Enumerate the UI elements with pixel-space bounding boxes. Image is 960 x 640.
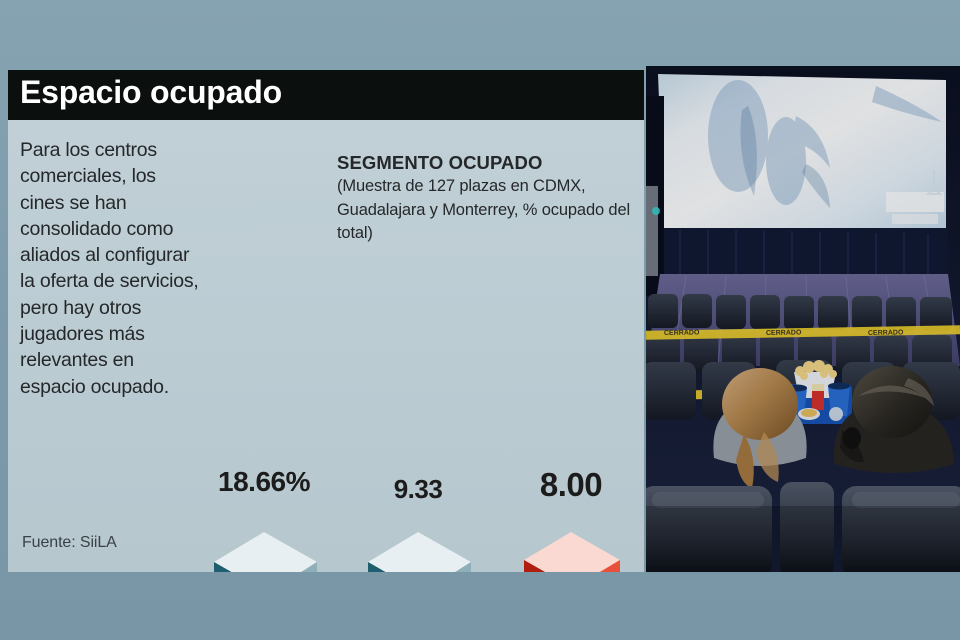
bar-shape-autoservicio	[204, 524, 324, 572]
infographic-root: Para los centros comerciales, los cines …	[0, 0, 960, 640]
bar-value-autoservicio: 18.66%	[204, 466, 324, 498]
bar-value-cine: 8.00	[516, 466, 626, 504]
cinema-photo: CERRADO CERRADO CERRADO CERRADO CERRADO …	[646, 66, 960, 572]
bar-value-departamental: 9.33	[358, 474, 478, 505]
chart-panel: Para los centros comerciales, los cines …	[8, 70, 644, 572]
bar-shape-cine	[516, 524, 626, 572]
header-bar: Espacio ocupado	[8, 70, 644, 120]
bar-shape-departamental	[358, 524, 478, 572]
page-title: Espacio ocupado	[20, 74, 282, 111]
bar-chart: 18.66% Autoservicio 9.33	[8, 70, 644, 572]
